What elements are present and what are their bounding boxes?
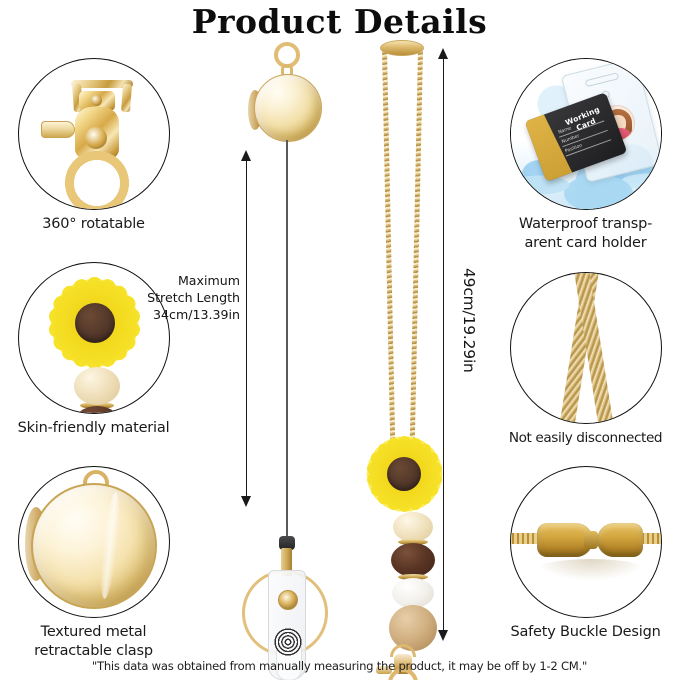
beaded-lanyard-product — [358, 40, 468, 655]
feature-caption-line2: arent card holder — [498, 234, 673, 253]
clasp-rivet — [91, 95, 102, 106]
sunflower-flower — [47, 275, 143, 371]
stretch-arrow-up — [241, 150, 251, 161]
lanyard-strand-left — [382, 50, 395, 454]
lanyard-arrow-up — [438, 48, 448, 59]
lanyard-white-bead — [392, 578, 434, 608]
clasp-pivot-screw — [85, 127, 107, 149]
lanyard-arrow-down — [438, 630, 448, 641]
product-details-infographic: Product Details 360° rotatable — [0, 0, 679, 680]
lanyard-sunflower-head — [362, 432, 446, 516]
reel-spiral-detail — [274, 628, 302, 656]
stretch-length-label: Maximum Stretch Length 34cm/13.39in — [140, 272, 240, 323]
buckle-half-left — [537, 523, 593, 557]
lobster-clasp-icon — [18, 58, 170, 210]
stretch-label-line1: Maximum — [140, 272, 240, 289]
waterproof-card-holder-icon: Working Card Name Number Position — [510, 58, 662, 210]
lanyard-length-label: 49cm/19.29in — [460, 268, 478, 373]
lanyard-sunflower-core — [387, 457, 421, 491]
feature-360-rotatable: 360° rotatable — [6, 58, 181, 234]
reel-strap-snap-button — [278, 590, 298, 610]
stretch-label-line3: 34cm/13.39in — [140, 306, 240, 323]
clasp-tongue — [41, 121, 75, 138]
lanyard-sunflower — [362, 432, 446, 516]
clasp-swivel-leg-right — [121, 84, 132, 113]
clasp-hook-loop — [61, 147, 133, 210]
safety-buckle-icon — [510, 466, 662, 618]
buckle-reflection — [535, 559, 647, 581]
feature-waterproof-card-holder: Working Card Name Number Position Waterp… — [498, 58, 673, 253]
feature-caption: Skin-friendly material — [6, 419, 181, 438]
brown-bead — [72, 406, 122, 414]
feature-safety-buckle: Safety Buckle Design — [498, 466, 673, 642]
lanyard-top-bead-cap — [380, 40, 424, 56]
sunflower-core — [75, 303, 115, 343]
sunflower-bead-stack — [47, 275, 147, 414]
feature-retractable-clasp: Textured metal retractable clasp — [6, 466, 181, 661]
reel-retractable-cord — [286, 140, 288, 540]
lanyard-cream-bead — [393, 512, 433, 542]
feature-caption: Not easily disconnected — [498, 429, 673, 448]
stretch-label-line2: Stretch Length — [140, 289, 240, 306]
lanyard-strand-right — [410, 50, 423, 454]
feature-caption-line1: Textured metal — [6, 623, 181, 642]
retractable-reel-icon — [18, 466, 170, 618]
reel-disc-face — [31, 483, 157, 609]
page-title: Product Details — [0, 2, 679, 41]
lanyard-dimension-line — [443, 58, 444, 632]
feature-caption: 360° rotatable — [6, 215, 181, 234]
feature-caption-line1: Waterproof transp- — [498, 215, 673, 234]
lanyard-brown-bead — [391, 543, 435, 577]
stretch-dimension-line — [246, 160, 247, 498]
cord-pair — [511, 273, 661, 423]
cream-bead — [74, 367, 120, 405]
stretch-arrow-down — [241, 496, 251, 507]
buckle-half-right — [597, 523, 643, 557]
feature-not-disconnected: Not easily disconnected — [498, 272, 673, 448]
retractable-badge-reel-product — [224, 42, 344, 652]
braided-cord-icon — [510, 272, 662, 424]
measurement-disclaimer: "This data was obtained from manually me… — [0, 659, 679, 673]
feature-caption: Safety Buckle Design — [498, 623, 673, 642]
sleeve-slot — [584, 72, 619, 87]
reel-housing-face — [254, 74, 322, 142]
